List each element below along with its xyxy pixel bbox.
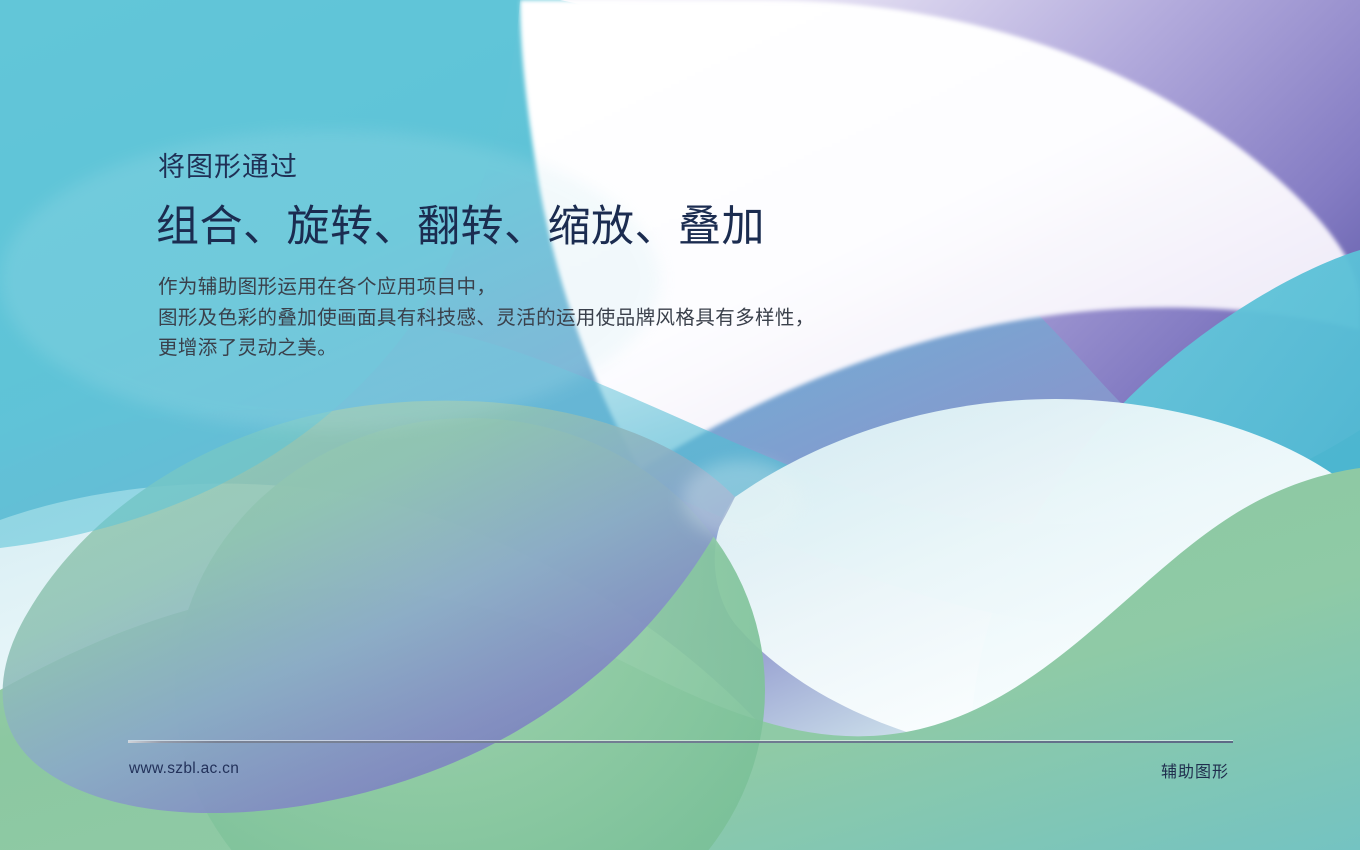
hero-eyebrow: 将图形通过 xyxy=(158,150,298,184)
footer-website-url[interactable]: www.szbl.ac.cn xyxy=(129,760,239,778)
body-line-1: 作为辅助图形运用在各个应用项目中， xyxy=(158,272,815,303)
content-layer: 将图形通过 组合、旋转、翻转、缩放、叠加 作为辅助图形运用在各个应用项目中， 图… xyxy=(0,0,1360,850)
body-line-3: 更增添了灵动之美。 xyxy=(158,333,815,364)
hero-body-copy: 作为辅助图形运用在各个应用项目中， 图形及色彩的叠加使画面具有科技感、灵活的运用… xyxy=(158,272,815,364)
body-line-2: 图形及色彩的叠加使画面具有科技感、灵活的运用使品牌风格具有多样性， xyxy=(158,303,815,334)
footer-section-label: 辅助图形 xyxy=(1161,758,1229,782)
footer-divider xyxy=(128,741,1233,743)
poster-canvas: 将图形通过 组合、旋转、翻转、缩放、叠加 作为辅助图形运用在各个应用项目中， 图… xyxy=(0,0,1360,850)
hero-headline: 组合、旋转、翻转、缩放、叠加 xyxy=(156,199,765,255)
